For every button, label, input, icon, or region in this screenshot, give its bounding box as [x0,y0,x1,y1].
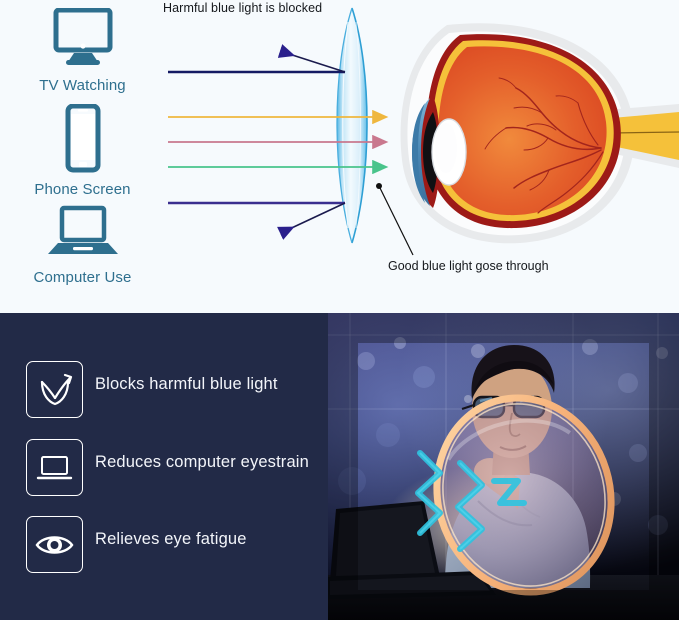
eye-icon [26,516,83,573]
feature-label: Relieves eye fatigue [95,530,247,549]
feature-list: Blocks harmful blue light Reduces comput… [0,313,328,620]
feature-item: Blocks harmful blue light [0,361,328,421]
eye-cross-section [401,23,679,243]
blocked-ray-bottom [168,203,345,232]
feature-label: Blocks harmful blue light [95,375,278,394]
man-at-laptop-with-lens-photo [328,313,679,620]
good-light-leader-line [376,183,413,255]
laptop-icon [26,439,83,496]
shield-check-arrow-icon [26,361,83,418]
feature-item: Relieves eye fatigue [0,516,328,576]
infographic-root: Harmful blue light is blocked Good blue … [0,0,679,620]
diagram-panel: Harmful blue light is blocked Good blue … [0,0,679,313]
blocked-ray-top [168,52,345,72]
feature-label: Reduces computer eyestrain [95,453,309,472]
feature-item: Reduces computer eyestrain [0,439,328,499]
blue-light-filter-lens [337,8,367,243]
light-ray-diagram [0,0,679,313]
